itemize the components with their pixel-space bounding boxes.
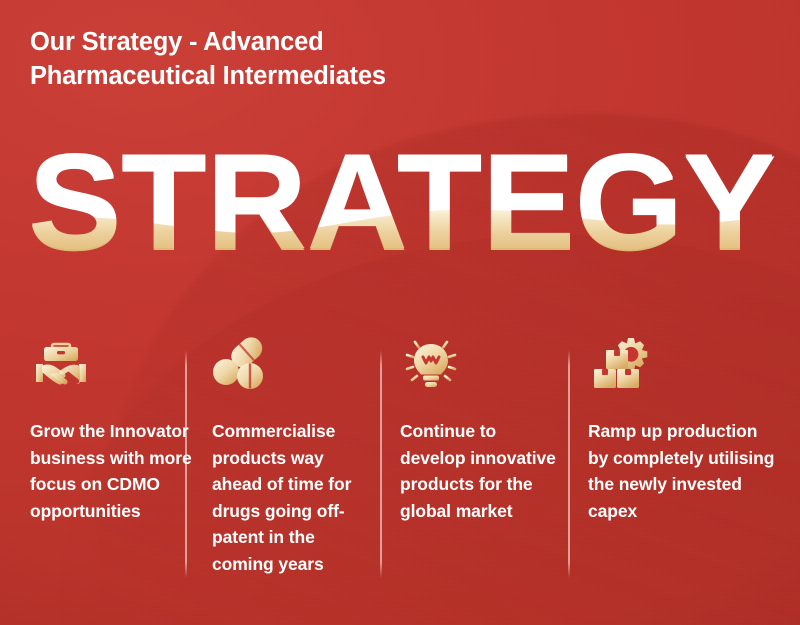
pillar-text-1: Grow the Innovator business with more fo…	[30, 418, 198, 524]
strategy-wordmark: STRATEGY	[28, 128, 798, 278]
handshake-briefcase-icon	[30, 336, 198, 392]
pills-icon	[212, 336, 372, 392]
page-title-line-2: Pharmaceutical Intermediates	[30, 60, 550, 94]
pillar-item-1: Grow the Innovator business with more fo…	[30, 336, 198, 524]
strategy-slide: Our Strategy - Advanced Pharmaceutical I…	[0, 0, 800, 625]
boxes-gear-icon	[588, 336, 778, 392]
pillar-text-2: Commercialise products way ahead of time…	[212, 418, 372, 578]
pillar-item-4: Ramp up production by completely utilisi…	[588, 336, 778, 524]
pillar-text-3: Continue to develop innovative products …	[400, 418, 560, 524]
pillar-text-4: Ramp up production by completely utilisi…	[588, 418, 778, 524]
lightbulb-icon	[400, 336, 560, 392]
column-divider-3	[568, 350, 570, 578]
page-title-line-1: Our Strategy - Advanced	[30, 26, 550, 60]
wordmark-container: STRATEGY STRATEGY	[0, 128, 800, 278]
page-title: Our Strategy - Advanced Pharmaceutical I…	[30, 26, 550, 93]
pillar-item-3: Continue to develop innovative products …	[400, 336, 560, 524]
pillars-row: Grow the Innovator business with more fo…	[0, 336, 800, 598]
column-divider-2	[380, 350, 382, 578]
pillar-item-2: Commercialise products way ahead of time…	[212, 336, 372, 578]
